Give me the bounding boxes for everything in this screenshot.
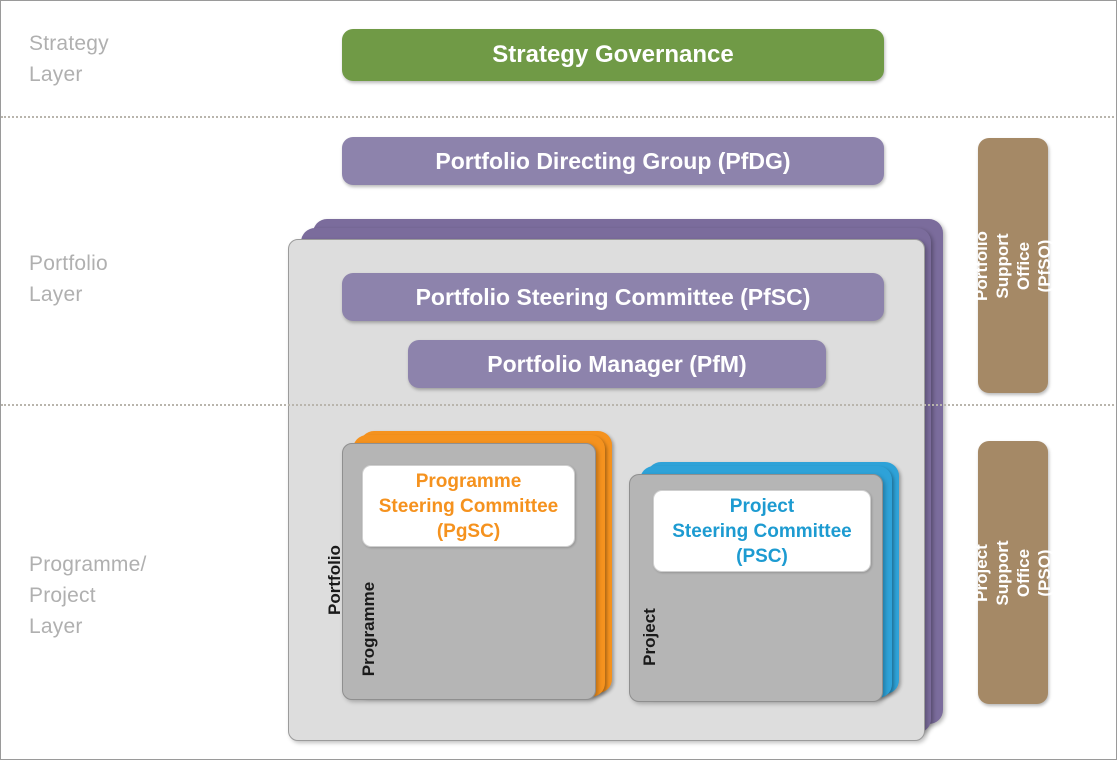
layer-label-strategy: Strategy Layer: [29, 28, 109, 90]
project-support-office-box[interactable]: Project Support Office (PSO): [978, 441, 1048, 704]
divider-strategy-portfolio: [1, 116, 1117, 118]
portfolio-support-office-box[interactable]: Portfolio Support Office (PfSO): [978, 138, 1048, 393]
layer-label-programme-project: Programme/ Project Layer: [29, 549, 147, 642]
portfolio-directing-group-box[interactable]: Portfolio Directing Group (PfDG): [342, 137, 884, 185]
portfolio-manager-box[interactable]: Portfolio Manager (PfM): [408, 340, 826, 388]
project-vertical-label: Project: [640, 577, 660, 697]
portfolio-support-office-label: Portfolio Support Office (PfSO): [971, 231, 1055, 301]
project-steering-committee-card[interactable]: Project Steering Committee (PSC): [653, 490, 871, 572]
divider-portfolio-programme-project: [1, 404, 1117, 406]
programme-vertical-label: Programme: [359, 569, 379, 689]
strategy-governance-box[interactable]: Strategy Governance: [342, 29, 884, 81]
portfolio-steering-committee-box[interactable]: Portfolio Steering Committee (PfSC): [342, 273, 884, 321]
programme-steering-committee-card[interactable]: Programme Steering Committee (PgSC): [362, 465, 575, 547]
governance-diagram-canvas: Strategy Layer Portfolio Layer Programme…: [0, 0, 1117, 760]
project-support-office-label: Project Support Office (PSO): [971, 538, 1055, 608]
layer-label-portfolio: Portfolio Layer: [29, 248, 108, 310]
